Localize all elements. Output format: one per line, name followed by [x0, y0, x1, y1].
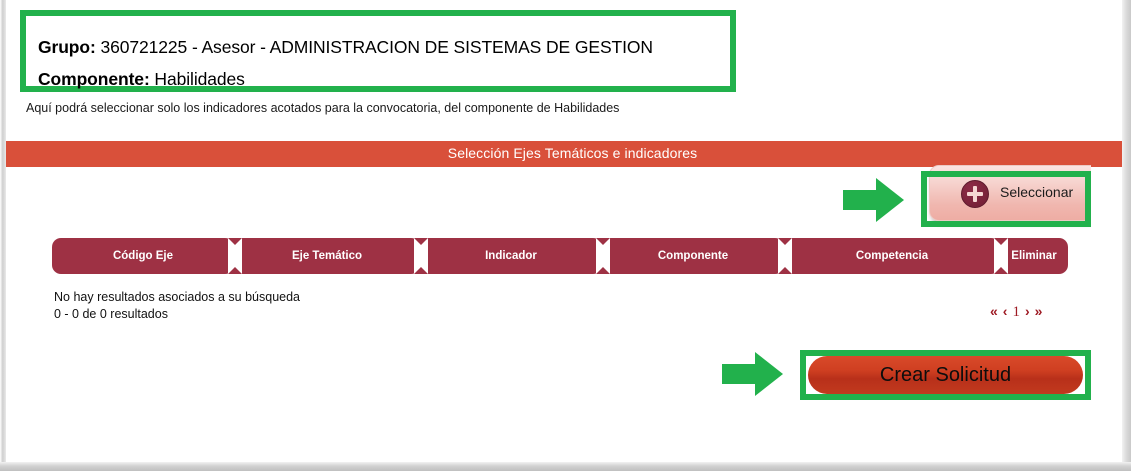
page-root: Grupo: 360721225 - Asesor - ADMINISTRACI… — [0, 0, 1131, 471]
grupo-line: Grupo: 360721225 - Asesor - ADMINISTRACI… — [38, 37, 653, 58]
window-edge-right — [1122, 0, 1131, 462]
column-divider — [414, 238, 428, 274]
seleccionar-button[interactable]: Seleccionar — [929, 165, 1091, 221]
page-subtitle: Aquí podrá seleccionar solo los indicado… — [26, 101, 619, 115]
pagination-prev-button[interactable]: ‹ — [1003, 303, 1013, 319]
crear-solicitud-button[interactable]: Crear Solicitud — [808, 356, 1083, 394]
column-divider — [596, 238, 610, 274]
componente-label: Componente: — [38, 69, 150, 89]
column-divider — [228, 238, 242, 274]
seleccionar-button-wrapper: Seleccionar — [921, 165, 1091, 233]
results-count: 0 - 0 de 0 resultados — [54, 306, 300, 323]
empty-results-block: No hay resultados asociados a su búsqued… — [54, 289, 300, 323]
column-divider — [778, 238, 792, 274]
componente-line: Componente: Habilidades — [38, 69, 245, 90]
column-header-codigo-eje[interactable]: Código Eje — [52, 238, 234, 274]
column-header-componente[interactable]: Componente — [602, 238, 784, 274]
results-table-header: Código Eje Eje Temático Indicador Compon… — [52, 238, 1068, 274]
column-header-competencia[interactable]: Competencia — [784, 238, 1000, 274]
pagination-last-button[interactable]: » — [1035, 303, 1048, 319]
plus-circle-icon — [961, 180, 989, 208]
column-header-eliminar[interactable]: Eliminar — [1000, 238, 1068, 274]
grupo-label: Grupo: — [38, 37, 96, 57]
group-info-highlight-box: Grupo: 360721225 - Asesor - ADMINISTRACI… — [20, 10, 736, 92]
grupo-value: 360721225 - Asesor - ADMINISTRACION DE S… — [96, 37, 653, 57]
empty-results-message: No hay resultados asociados a su búsqued… — [54, 289, 300, 306]
pagination-page-1[interactable]: 1 — [1012, 304, 1025, 321]
pagination-first-button[interactable]: « — [990, 303, 1003, 319]
pagination: «‹1›» — [990, 303, 1047, 321]
column-divider — [994, 238, 1008, 274]
componente-value: Habilidades — [150, 69, 245, 89]
green-arrow-right-icon-seleccionar — [843, 178, 905, 222]
section-banner-title: Selección Ejes Temáticos e indicadores — [6, 145, 1131, 161]
green-arrow-right-icon-crear — [722, 352, 784, 396]
pagination-next-button[interactable]: › — [1025, 303, 1035, 319]
column-header-eje-tematico[interactable]: Eje Temático — [234, 238, 420, 274]
section-banner: Selección Ejes Temáticos e indicadores — [6, 141, 1122, 167]
seleccionar-button-label: Seleccionar — [1000, 184, 1073, 200]
column-header-indicador[interactable]: Indicador — [420, 238, 602, 274]
window-edge-bottom — [0, 462, 1131, 471]
